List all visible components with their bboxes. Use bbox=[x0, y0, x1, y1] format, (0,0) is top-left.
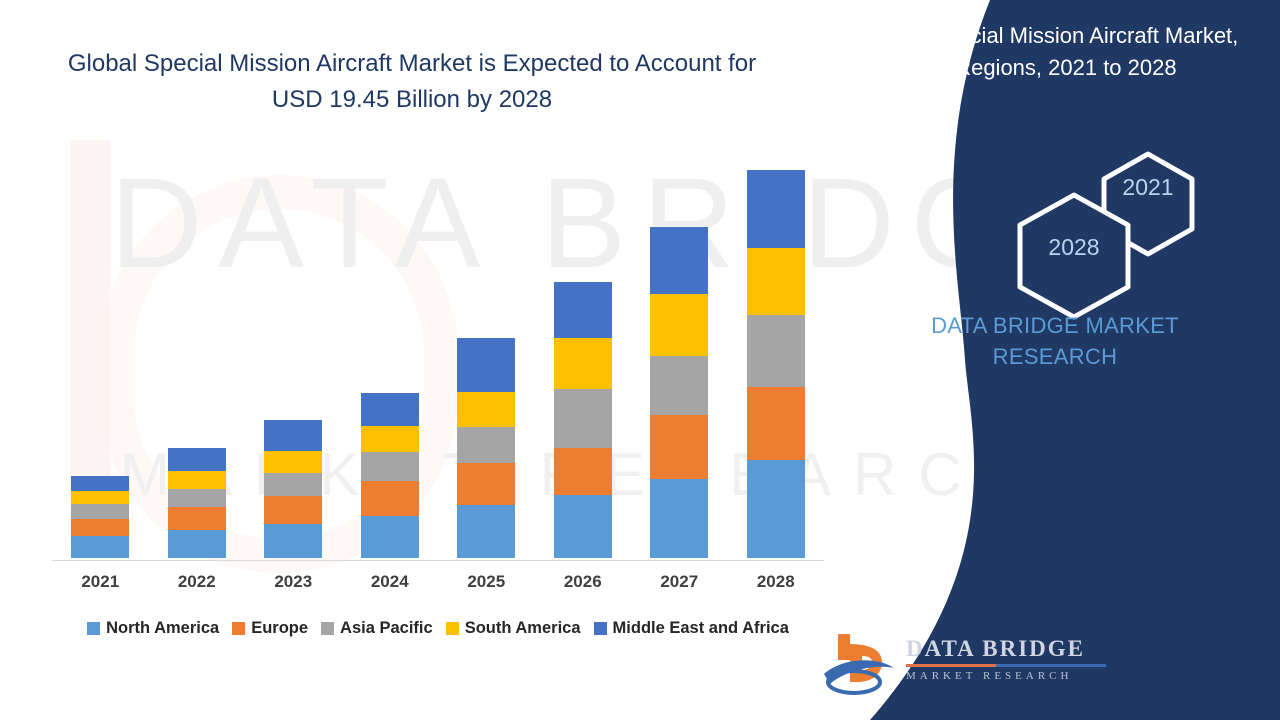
legend-label: South America bbox=[465, 619, 581, 638]
bar-column-2022 bbox=[149, 170, 246, 558]
legend-label: North America bbox=[106, 619, 219, 638]
bar-segment[interactable] bbox=[457, 505, 515, 558]
bar-segment[interactable] bbox=[168, 507, 226, 530]
x-axis-label: 2025 bbox=[438, 572, 535, 598]
bar-column-2025 bbox=[438, 170, 535, 558]
bar-segment[interactable] bbox=[554, 448, 612, 495]
bar-column-2023 bbox=[245, 170, 342, 558]
bar-group bbox=[52, 170, 824, 558]
bar-segment[interactable] bbox=[554, 282, 612, 338]
logo-divider bbox=[906, 664, 1106, 667]
hexagon-2028: 2028 bbox=[1015, 190, 1133, 322]
bar-segment[interactable] bbox=[168, 530, 226, 558]
stacked-bar[interactable] bbox=[168, 448, 226, 558]
bar-segment[interactable] bbox=[361, 516, 419, 558]
bar-segment[interactable] bbox=[457, 427, 515, 463]
x-axis-label: 2022 bbox=[149, 572, 246, 598]
bar-segment[interactable] bbox=[650, 356, 708, 415]
logo-subtitle: MARKET RESEARCH bbox=[906, 670, 1136, 682]
legend-swatch bbox=[321, 622, 334, 635]
stacked-bar[interactable] bbox=[71, 476, 129, 558]
legend-swatch bbox=[87, 622, 100, 635]
bar-segment[interactable] bbox=[554, 389, 612, 448]
bar-segment[interactable] bbox=[361, 452, 419, 481]
hexagon-2028-label: 2028 bbox=[1015, 234, 1133, 261]
legend-label: Asia Pacific bbox=[340, 619, 433, 638]
bar-segment[interactable] bbox=[747, 248, 805, 315]
bar-segment[interactable] bbox=[264, 524, 322, 558]
legend-label: Europe bbox=[251, 619, 308, 638]
stacked-bar-chart bbox=[52, 170, 824, 562]
legend-item[interactable]: Middle East and Africa bbox=[594, 619, 789, 638]
chart-legend: North AmericaEuropeAsia PacificSouth Ame… bbox=[52, 615, 824, 641]
bar-segment[interactable] bbox=[71, 519, 129, 537]
x-axis-label: 2021 bbox=[52, 572, 149, 598]
logo-title: DATA BRIDGE bbox=[906, 636, 1136, 662]
legend-item[interactable]: Europe bbox=[232, 619, 308, 638]
bar-segment[interactable] bbox=[71, 476, 129, 490]
stacked-bar[interactable] bbox=[457, 338, 515, 558]
bar-column-2024 bbox=[342, 170, 439, 558]
bar-segment[interactable] bbox=[650, 294, 708, 356]
bar-segment[interactable] bbox=[747, 387, 805, 459]
bar-segment[interactable] bbox=[71, 536, 129, 558]
bar-segment[interactable] bbox=[361, 481, 419, 515]
legend-item[interactable]: North America bbox=[87, 619, 219, 638]
x-axis-label: 2026 bbox=[535, 572, 632, 598]
bar-segment[interactable] bbox=[361, 426, 419, 453]
chart-title: Global Special Mission Aircraft Market i… bbox=[62, 46, 762, 118]
bar-segment[interactable] bbox=[361, 393, 419, 426]
x-axis-label: 2024 bbox=[342, 572, 439, 598]
bar-segment[interactable] bbox=[457, 463, 515, 505]
x-axis-labels: 20212022202320242025202620272028 bbox=[52, 572, 824, 598]
bar-segment[interactable] bbox=[747, 460, 805, 558]
infographic-canvas: DATA BRIDGE MARKET RESEARCH Global Speci… bbox=[0, 0, 1280, 720]
legend-item[interactable]: Asia Pacific bbox=[321, 619, 433, 638]
bar-segment[interactable] bbox=[264, 496, 322, 524]
bar-column-2026 bbox=[535, 170, 632, 558]
logo-wordmark: DATA BRIDGE MARKET RESEARCH bbox=[906, 636, 1136, 682]
bar-segment[interactable] bbox=[747, 170, 805, 248]
bar-segment[interactable] bbox=[264, 473, 322, 496]
bar-segment[interactable] bbox=[71, 491, 129, 504]
stacked-bar[interactable] bbox=[361, 393, 419, 559]
bar-segment[interactable] bbox=[264, 451, 322, 473]
legend-swatch bbox=[594, 622, 607, 635]
bar-segment[interactable] bbox=[168, 448, 226, 471]
stacked-bar[interactable] bbox=[747, 170, 805, 558]
x-axis-label: 2027 bbox=[631, 572, 728, 598]
bar-segment[interactable] bbox=[264, 420, 322, 451]
legend-swatch bbox=[446, 622, 459, 635]
bar-segment[interactable] bbox=[457, 392, 515, 426]
legend-label: Middle East and Africa bbox=[613, 619, 789, 638]
stacked-bar[interactable] bbox=[650, 227, 708, 558]
bar-segment[interactable] bbox=[457, 338, 515, 393]
bar-segment[interactable] bbox=[554, 495, 612, 558]
bar-segment[interactable] bbox=[71, 504, 129, 518]
legend-item[interactable]: South America bbox=[446, 619, 581, 638]
bar-column-2021 bbox=[52, 170, 149, 558]
brand-name: DATA BRIDGE MARKET RESEARCH bbox=[890, 310, 1220, 372]
logo-mark-icon bbox=[820, 630, 900, 696]
bar-segment[interactable] bbox=[747, 315, 805, 387]
bar-segment[interactable] bbox=[554, 338, 612, 390]
stacked-bar[interactable] bbox=[264, 420, 322, 558]
company-logo: DATA BRIDGE MARKET RESEARCH bbox=[820, 630, 1060, 700]
stacked-bar[interactable] bbox=[554, 282, 612, 558]
bar-segment[interactable] bbox=[650, 227, 708, 294]
bar-segment[interactable] bbox=[650, 415, 708, 479]
bar-segment[interactable] bbox=[650, 479, 708, 558]
bar-column-2027 bbox=[631, 170, 728, 558]
side-panel-content: Global Special Mission Aircraft Market, … bbox=[810, 0, 1280, 720]
bar-segment[interactable] bbox=[168, 471, 226, 489]
bar-segment[interactable] bbox=[168, 489, 226, 508]
legend-swatch bbox=[232, 622, 245, 635]
x-axis-label: 2023 bbox=[245, 572, 342, 598]
